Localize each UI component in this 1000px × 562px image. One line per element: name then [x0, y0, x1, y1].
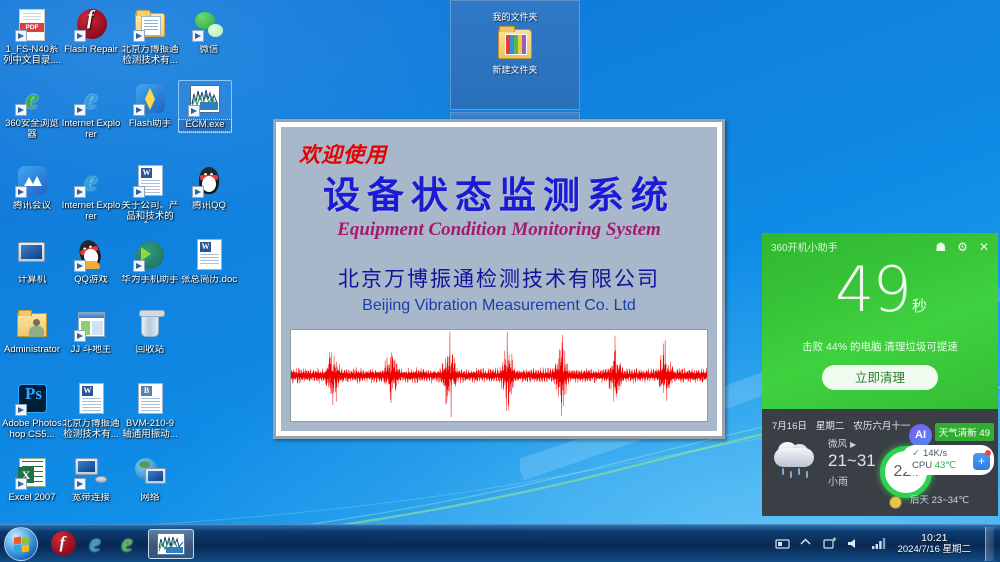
- windows-logo-icon: [14, 537, 30, 553]
- desktop-icon-broadband[interactable]: 宽带连接: [61, 456, 121, 504]
- wind-label: 微风: [828, 439, 847, 450]
- desktop-icon-excel-2007[interactable]: X Excel 2007: [2, 456, 62, 504]
- icon-label: Internet Explorer: [61, 119, 121, 140]
- icon-label: 回收站: [120, 345, 180, 356]
- icon-label: ECM.exe: [179, 120, 231, 131]
- rain-cloud-icon: [770, 442, 822, 482]
- desktop-icon-ecm-exe[interactable]: ECM.exe: [178, 80, 232, 133]
- word-document-icon: W: [74, 382, 108, 416]
- user-folder-icon: [15, 308, 49, 342]
- photoshop-icon: Ps: [15, 382, 49, 416]
- desktop-icon-tencent-qq[interactable]: 腾讯QQ: [179, 164, 239, 212]
- boot-subtitle: 击败 44% 的电脑 清理垃圾可提速: [762, 339, 998, 354]
- desktop-icon-flash-repair[interactable]: f Flash Repair: [61, 8, 121, 56]
- icon-label: Administrator: [2, 345, 62, 356]
- pdf-file-icon: PDF: [15, 8, 49, 42]
- weather-weekday: 星期二: [816, 418, 845, 432]
- flash-helper-icon: [133, 82, 167, 116]
- shortcut-arrow-icon: [74, 30, 86, 42]
- icon-label: 360安全浏览器: [2, 119, 62, 140]
- system-tray: 10:21 2024/7/16 星期二: [775, 527, 1000, 561]
- icon-label: 微信: [179, 45, 239, 56]
- shortcut-arrow-icon: [188, 105, 200, 117]
- icon-label: 关于公司、产品和技术的介...: [120, 201, 180, 223]
- icon-label: 张总简历.doc: [179, 275, 239, 286]
- desktop: PDF 1_FS-N40系列中文目录.... f Flash Repair 北京…: [0, 0, 1000, 562]
- desktop-icon-company-intro-doc[interactable]: W 关于公司、产品和技术的介...: [120, 164, 180, 223]
- shortcut-arrow-icon: [74, 104, 86, 116]
- shortcut-arrow-icon: [74, 260, 86, 272]
- widget-header-icons: ☗ ⚙ ✕: [935, 241, 989, 253]
- desktop-icon-pdf-catalog[interactable]: PDF 1_FS-N40系列中文目录....: [2, 8, 62, 66]
- 360-boot-assistant-widget[interactable]: 360开机小助手 ☗ ⚙ ✕ 49秒 击败 44% 的电脑 清理垃圾可提速 立即…: [762, 233, 998, 409]
- document-icon: B: [133, 382, 167, 416]
- gear-icon[interactable]: ⚙: [957, 241, 968, 253]
- jj-game-icon: [74, 308, 108, 342]
- desktop-icon-resume-doc[interactable]: W 张总简历.doc: [179, 238, 239, 286]
- show-desktop-button[interactable]: [985, 527, 994, 561]
- close-icon[interactable]: ✕: [979, 241, 989, 253]
- word-document-icon: W: [192, 238, 226, 272]
- desktop-icon-qq-games[interactable]: QQ游戏: [61, 238, 121, 286]
- icon-label: BVM-210-9 轴通用振动...: [120, 419, 180, 440]
- icon-label: QQ游戏: [61, 275, 121, 286]
- shortcut-arrow-icon: [15, 30, 27, 42]
- desktop-icon-jj-landlord[interactable]: JJ 斗地主: [61, 308, 121, 356]
- weather-condition: 小雨: [828, 473, 876, 488]
- ecm-app-icon: [188, 83, 222, 117]
- desktop-icon-hisuite[interactable]: 华为手机助手: [120, 238, 180, 286]
- flash-repair-icon: f: [74, 8, 108, 42]
- weather-lunar: 农历六月十一: [853, 418, 910, 432]
- cpu-label: CPU: [912, 460, 932, 471]
- ecm-task-icon: [157, 533, 185, 555]
- taskbar-button-ecm[interactable]: [148, 529, 194, 559]
- desktop-icon-computer[interactable]: 计算机: [2, 238, 62, 286]
- boot-seconds-value: 49: [835, 253, 910, 326]
- shortcut-arrow-icon: [15, 186, 27, 198]
- quick-launch-bar: f e e: [48, 529, 142, 559]
- desktop-icon-administrator[interactable]: Administrator: [2, 308, 62, 356]
- notification-dot: [985, 450, 991, 456]
- vibration-waveform-chart: [290, 329, 708, 422]
- icon-label: 华为手机助手: [120, 275, 180, 286]
- icon-label: Flash助手: [120, 119, 180, 130]
- network-signal-icon[interactable]: [871, 537, 886, 551]
- boot-seconds-unit: 秒: [912, 297, 925, 315]
- shortcut-arrow-icon: [74, 186, 86, 198]
- new-folder-icon: [498, 29, 532, 59]
- shortcut-arrow-icon: [192, 186, 204, 198]
- internet-explorer-icon: e: [74, 82, 108, 116]
- internet-explorer-icon: e: [74, 164, 108, 198]
- temperature-range: 21~31: [828, 451, 876, 471]
- check-icon: ✓: [912, 448, 920, 459]
- desktop-icon-internet-explorer[interactable]: e Internet Explorer: [61, 82, 121, 140]
- 360-browser-icon: e: [15, 82, 49, 116]
- taskbar-flash-player-icon[interactable]: f: [48, 529, 78, 559]
- weather-date: 7月16日: [772, 418, 807, 432]
- boot-seconds: 49秒: [762, 258, 998, 338]
- icon-label: 1_FS-N40系列中文目录....: [2, 45, 62, 66]
- desktop-icon-tencent-meeting[interactable]: 腾讯会议: [2, 164, 62, 212]
- wechat-icon: [192, 8, 226, 42]
- icon-label: Excel 2007: [2, 493, 62, 504]
- icon-label: 计算机: [2, 275, 62, 286]
- waveform-plot: [291, 330, 707, 421]
- broadband-connection-icon: [74, 456, 108, 490]
- qq-games-icon: [74, 238, 108, 272]
- desktop-icon-photoshop[interactable]: Ps Adobe Photoshop CS5...: [2, 382, 62, 440]
- clean-now-button[interactable]: 立即清理: [822, 365, 938, 390]
- clock-time: 10:21: [898, 532, 971, 544]
- shortcut-arrow-icon: [74, 478, 86, 490]
- system-status-pill[interactable]: ✓14K/s CPU 43℃ +: [902, 445, 994, 475]
- desktop-icon-internet-explorer-2[interactable]: e Internet Explorer: [61, 164, 121, 222]
- shortcut-arrow-icon: [133, 186, 145, 198]
- shortcut-arrow-icon: [15, 478, 27, 490]
- clock-date: 2024/7/16 星期二: [898, 544, 971, 556]
- shirt-icon[interactable]: ☗: [935, 241, 946, 253]
- splash-window[interactable]: 欢迎使用 设备状态监测系统 Equipment Condition Monito…: [273, 119, 725, 439]
- welcome-text: 欢迎使用: [299, 139, 717, 169]
- desktop-icon-company-folder[interactable]: 北京万博振通检测技术有...: [120, 8, 180, 66]
- taskbar-clock[interactable]: 10:21 2024/7/16 星期二: [895, 532, 974, 556]
- icon-label: 北京万博振通检测技术有...: [120, 45, 180, 66]
- hisuite-icon: [133, 238, 167, 272]
- usb-device-icon[interactable]: [775, 537, 790, 551]
- taskbar-360-browser-icon[interactable]: e: [112, 529, 142, 559]
- shortcut-arrow-icon: [74, 330, 86, 342]
- widget-header: 360开机小助手 ☗ ⚙ ✕: [762, 233, 998, 254]
- computer-icon: [15, 238, 49, 272]
- company-name-cn: 北京万博振通检测技术有限公司: [281, 263, 717, 293]
- volume-icon[interactable]: [847, 537, 862, 551]
- desktop-icon-network[interactable]: 网络: [120, 456, 180, 504]
- icon-label: 腾讯QQ: [179, 201, 239, 212]
- show-hidden-icons-arrow[interactable]: [799, 537, 814, 551]
- desktop-icon-360-browser[interactable]: e 360安全浏览器: [2, 82, 62, 140]
- qq-penguin-icon: [192, 164, 226, 198]
- taskbar: f e e: [0, 524, 1000, 562]
- cpu-temp: 43℃: [935, 460, 956, 471]
- cpu-temp-row: CPU 43℃: [912, 460, 968, 472]
- folder-item-label: 新建文件夹: [492, 65, 537, 75]
- icon-label: 宽带连接: [61, 493, 121, 504]
- icon-label: JJ 斗地主: [61, 345, 121, 356]
- folder-window[interactable]: 我的文件夹 新建文件夹: [450, 0, 580, 110]
- safely-remove-hardware-icon[interactable]: [823, 537, 838, 551]
- weather-details: 微风▶ 21~31 小雨: [822, 436, 876, 488]
- chevron-right-icon[interactable]: ▶: [850, 440, 856, 449]
- desktop-icon-flash-helper[interactable]: Flash助手: [120, 82, 180, 130]
- word-document-icon: W: [133, 164, 167, 198]
- desktop-icon-wechat[interactable]: 微信: [179, 8, 239, 56]
- shortcut-arrow-icon: [15, 404, 27, 416]
- desktop-icon-bvm-doc[interactable]: B BVM-210-9 轴通用振动...: [120, 382, 180, 440]
- icon-label: 北京万博振通检测技术有...: [61, 419, 121, 440]
- network-icon: [133, 456, 167, 490]
- wind-row: 微风▶: [828, 436, 876, 450]
- icon-label: 网络: [120, 493, 180, 504]
- splash-panel: 欢迎使用 设备状态监测系统 Equipment Condition Monito…: [281, 127, 717, 431]
- weather-widget[interactable]: 7月16日 星期二 农历六月十一 AI 天气清新 49 微风▶ 21~31 小雨…: [762, 409, 998, 516]
- desktop-icon-company-word-doc[interactable]: W 北京万博振通检测技术有...: [61, 382, 121, 440]
- network-speed: 14K/s: [923, 448, 947, 459]
- forecast-tomorrow: 后天 23~34℃: [910, 492, 969, 506]
- folder-window-item[interactable]: 新建文件夹: [451, 29, 579, 76]
- shortcut-arrow-icon: [133, 30, 145, 42]
- company-name-en: Beijing Vibration Measurement Co. Ltd: [281, 297, 717, 315]
- shortcut-arrow-icon: [133, 260, 145, 272]
- desktop-icon-recycle-bin[interactable]: 回收站: [120, 308, 180, 356]
- folder-icon: [133, 8, 167, 42]
- shortcut-arrow-icon: [15, 104, 27, 116]
- shortcut-arrow-icon: [192, 30, 204, 42]
- icon-label: Flash Repair: [61, 45, 121, 56]
- icon-label: 腾讯会议: [2, 201, 62, 212]
- folder-window-title: 我的文件夹: [451, 1, 579, 23]
- widget-title: 360开机小助手: [771, 239, 838, 254]
- icon-label: Adobe Photoshop CS5...: [2, 419, 62, 440]
- splash-inner-border: 欢迎使用 设备状态监测系统 Equipment Condition Monito…: [276, 122, 722, 436]
- tencent-meeting-icon: [15, 164, 49, 198]
- sun-icon: [890, 497, 901, 508]
- network-speed-row: ✓14K/s: [912, 448, 968, 460]
- shortcut-arrow-icon: [133, 104, 145, 116]
- app-title-cn: 设备状态监测系统: [281, 173, 717, 217]
- recycle-bin-icon: [133, 308, 167, 342]
- icon-label: Internet Explorer: [61, 201, 121, 222]
- app-title-en: Equipment Condition Monitoring System: [281, 219, 717, 241]
- excel-icon: X: [15, 456, 49, 490]
- taskbar-internet-explorer-icon[interactable]: e: [80, 529, 110, 559]
- start-button[interactable]: [4, 527, 38, 561]
